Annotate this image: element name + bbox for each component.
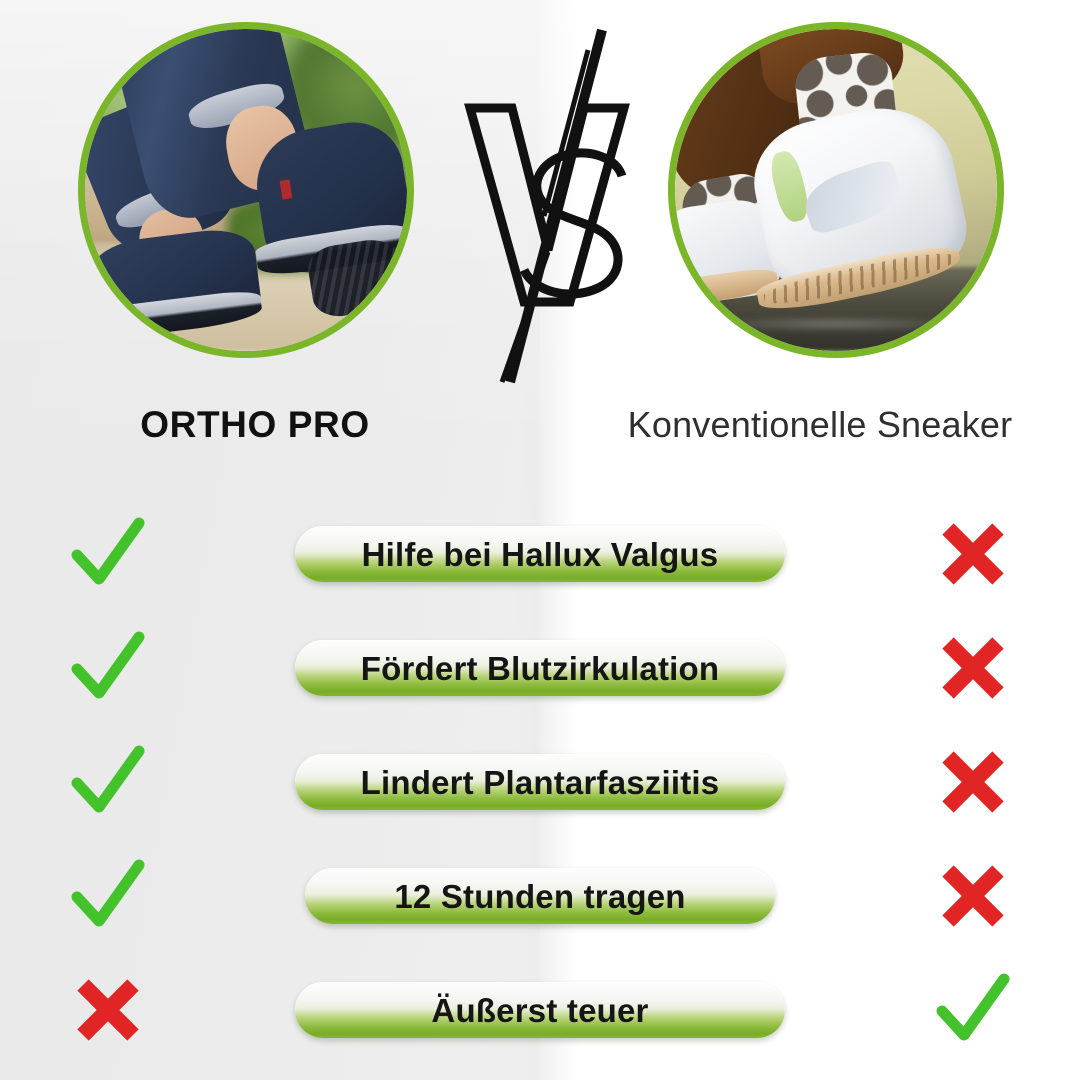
table-row: Fördert Blutzirkulation (0, 611, 1080, 725)
feature-pill-1: Hilfe bei Hallux Valgus (295, 526, 785, 582)
product-image-left (78, 22, 414, 358)
left-mark-1 (0, 517, 215, 591)
table-row: Lindert Plantarfasziitis (0, 725, 1080, 839)
cross-mark-icon (938, 861, 1008, 931)
page-title-right: Konventionelle Sneaker (580, 404, 1060, 446)
comparison-infographic: ORTHO PRO Konventionelle Sneaker Hilfe b… (0, 0, 1080, 1080)
check-mark-icon (69, 517, 147, 591)
cross-mark-icon (938, 519, 1008, 589)
feature-label: Äußerst teuer (431, 994, 648, 1027)
feature-pill-2: Fördert Blutzirkulation (295, 640, 785, 696)
check-mark-icon (69, 745, 147, 819)
right-mark-5 (865, 973, 1080, 1047)
feature-pill-3: Lindert Plantarfasziitis (295, 754, 785, 810)
photo-conventional-sneakers (675, 29, 997, 351)
left-mark-5 (0, 975, 215, 1045)
feature-label: Lindert Plantarfasziitis (361, 766, 720, 799)
table-row: Hilfe bei Hallux Valgus (0, 497, 1080, 611)
check-mark-icon (69, 859, 147, 933)
cross-mark-icon (73, 975, 143, 1045)
table-row: Äußerst teuer (0, 953, 1080, 1067)
page-title-left: ORTHO PRO (30, 404, 480, 446)
cross-mark-icon (938, 747, 1008, 817)
check-mark-icon (934, 973, 1012, 1047)
table-row: 12 Stunden tragen (0, 839, 1080, 953)
photo-ortho-pro-shoes (85, 29, 407, 351)
right-mark-2 (865, 633, 1080, 703)
comparison-rows: Hilfe bei Hallux Valgus Fördert Blutzirk… (0, 497, 1080, 1067)
cross-mark-icon (938, 633, 1008, 703)
feature-pill-5: Äußerst teuer (295, 982, 785, 1038)
right-mark-4 (865, 861, 1080, 931)
left-mark-2 (0, 631, 215, 705)
right-mark-1 (865, 519, 1080, 589)
feature-label: Hilfe bei Hallux Valgus (362, 538, 719, 571)
feature-label: 12 Stunden tragen (394, 880, 685, 913)
right-mark-3 (865, 747, 1080, 817)
versus-badge-icon (452, 26, 652, 386)
product-image-right (668, 22, 1004, 358)
check-mark-icon (69, 631, 147, 705)
feature-label: Fördert Blutzirkulation (361, 652, 719, 685)
left-mark-4 (0, 859, 215, 933)
feature-pill-4: 12 Stunden tragen (305, 868, 775, 924)
left-mark-3 (0, 745, 215, 819)
